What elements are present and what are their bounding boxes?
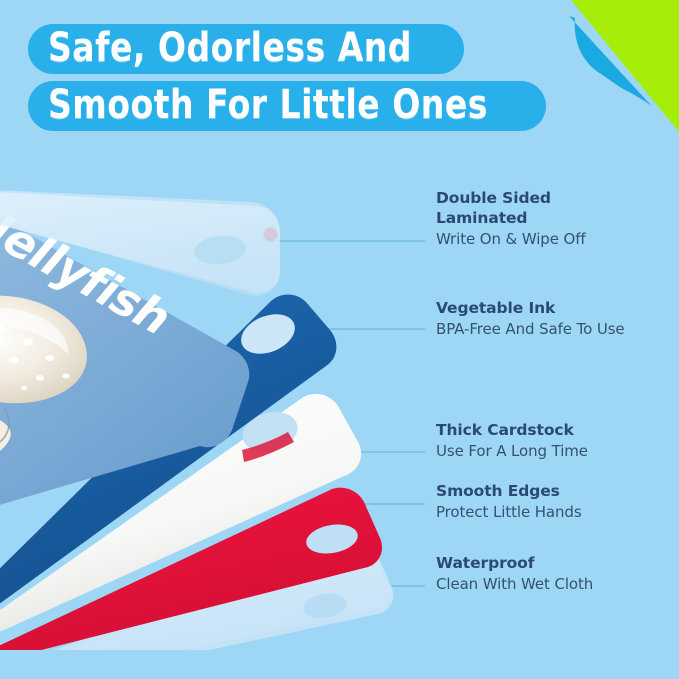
feature-vegetable-ink: Vegetable Ink BPA-Free And Safe To Use bbox=[436, 298, 679, 340]
feature-subtitle: Write On & Wipe Off bbox=[436, 229, 679, 250]
feature-subtitle: Use For A Long Time bbox=[436, 441, 679, 462]
feature-label-list: Double Sided Laminated Write On & Wipe O… bbox=[436, 0, 679, 679]
product-card-fan: Jellyfish bbox=[0, 150, 420, 650]
feature-title: Vegetable Ink bbox=[436, 298, 679, 318]
feature-title-line2: Laminated bbox=[436, 208, 679, 228]
feature-subtitle: Clean With Wet Cloth bbox=[436, 574, 679, 595]
feature-title: Thick Cardstock bbox=[436, 420, 679, 440]
feature-subtitle: BPA-Free And Safe To Use bbox=[436, 319, 679, 340]
headline-line2: Smooth For Little Ones bbox=[48, 83, 488, 127]
feature-smooth-edges: Smooth Edges Protect Little Hands bbox=[436, 481, 679, 523]
feature-thick-cardstock: Thick Cardstock Use For A Long Time bbox=[436, 420, 679, 462]
feature-title: Waterproof bbox=[436, 553, 679, 573]
feature-waterproof: Waterproof Clean With Wet Cloth bbox=[436, 553, 679, 595]
feature-title: Smooth Edges bbox=[436, 481, 679, 501]
headline-pill-line1: Safe, Odorless And bbox=[28, 24, 464, 74]
feature-double-sided-laminated: Double Sided Laminated Write On & Wipe O… bbox=[436, 188, 679, 250]
headline-line1: Safe, Odorless And bbox=[48, 26, 412, 70]
feature-subtitle: Protect Little Hands bbox=[436, 502, 679, 523]
infographic-canvas: Safe, Odorless And Smooth For Little One… bbox=[0, 0, 679, 679]
feature-title: Double Sided bbox=[436, 188, 679, 208]
